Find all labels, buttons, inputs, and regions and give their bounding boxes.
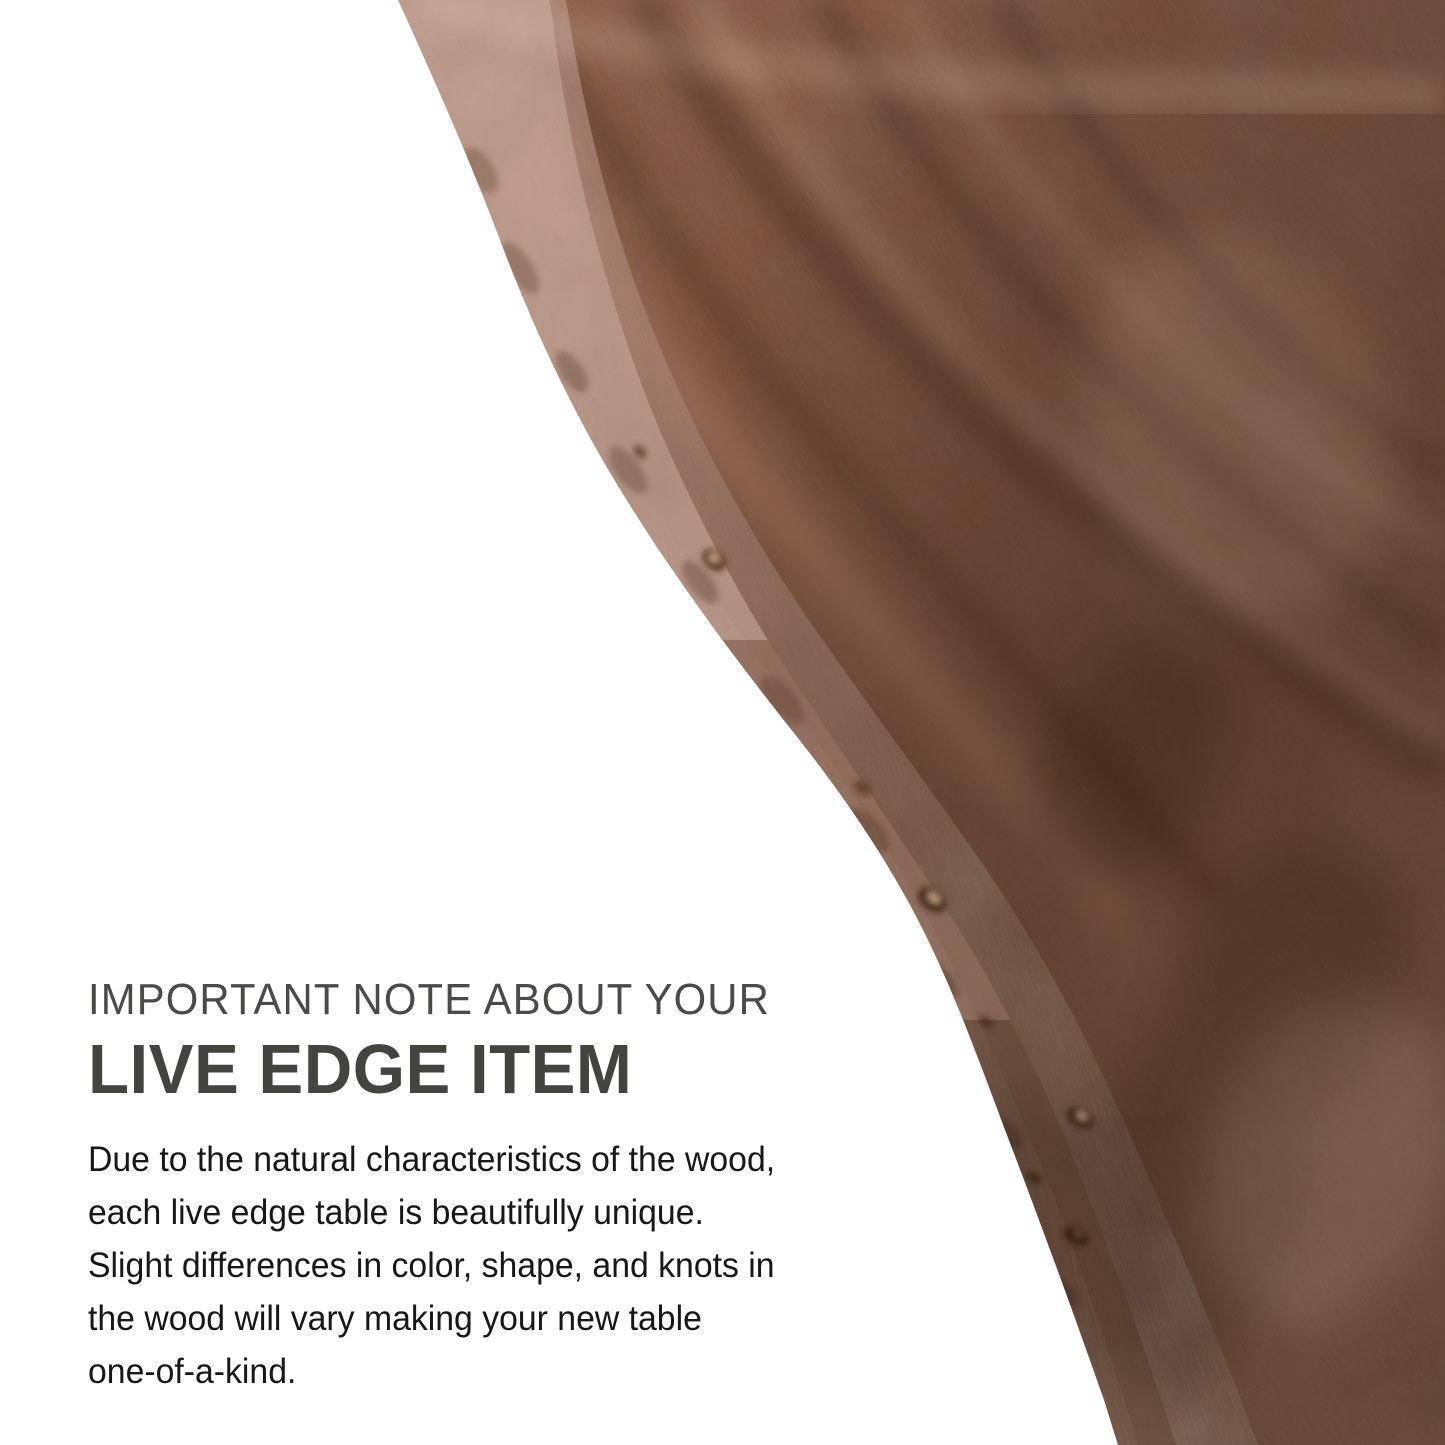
body-line-2: each live edge table is beautifully uniq… xyxy=(88,1186,821,1239)
body-copy: Due to the natural characteristics of th… xyxy=(88,1133,821,1398)
body-line-1: Due to the natural characteristics of th… xyxy=(88,1133,821,1186)
body-line-4: the wood will vary making your new table xyxy=(88,1292,821,1345)
body-line-5: one-of-a-kind. xyxy=(88,1345,821,1398)
live-edge-note-image: IMPORTANT NOTE ABOUT YOUR LIVE EDGE ITEM… xyxy=(0,0,1445,1445)
note-text-block: IMPORTANT NOTE ABOUT YOUR LIVE EDGE ITEM… xyxy=(88,975,848,1398)
eyebrow-heading: IMPORTANT NOTE ABOUT YOUR xyxy=(88,975,810,1025)
body-line-3: Slight differences in color, shape, and … xyxy=(88,1239,821,1292)
page-title: LIVE EDGE ITEM xyxy=(88,1031,818,1107)
